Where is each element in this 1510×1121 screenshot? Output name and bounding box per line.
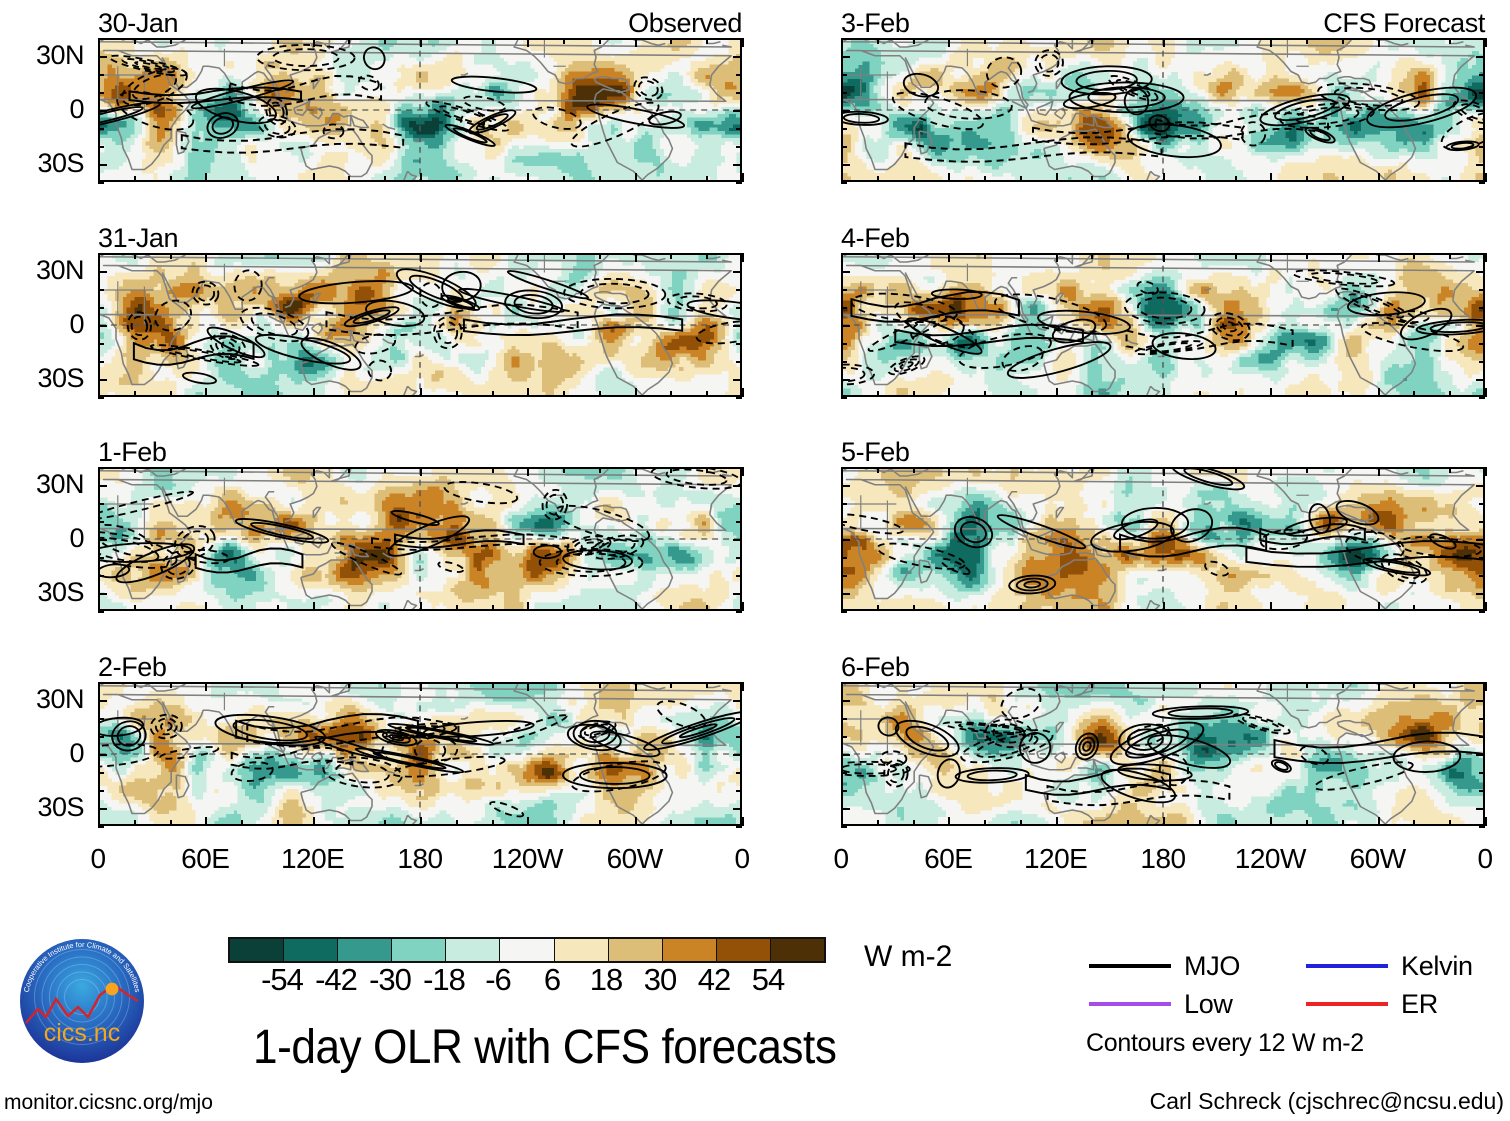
x-tick bbox=[384, 605, 386, 611]
x-tick bbox=[877, 682, 879, 688]
x-tick bbox=[420, 253, 422, 262]
x-tick bbox=[98, 388, 100, 397]
y-tick bbox=[1476, 485, 1485, 487]
y-tick bbox=[1476, 325, 1485, 327]
x-tick bbox=[877, 820, 879, 826]
y-tick bbox=[736, 289, 742, 291]
x-tick bbox=[913, 253, 915, 259]
y-tick bbox=[1479, 467, 1485, 469]
colorbar-swatch-4 bbox=[446, 939, 500, 961]
x-tick bbox=[599, 176, 601, 182]
y-tick bbox=[841, 575, 847, 577]
y-tick bbox=[98, 682, 104, 684]
y-tick bbox=[1476, 271, 1485, 273]
x-tick bbox=[670, 38, 672, 44]
x-tick bbox=[706, 682, 708, 688]
map-panel-31-jan: 31-Jan bbox=[98, 253, 742, 397]
x-tick bbox=[420, 38, 422, 47]
y-axis-label: 0 bbox=[4, 96, 84, 123]
x-tick bbox=[277, 391, 279, 397]
x-tick bbox=[348, 38, 350, 44]
x-tick bbox=[913, 391, 915, 397]
y-axis-label: 30N bbox=[4, 686, 84, 713]
x-tick bbox=[420, 817, 422, 826]
panel-date-label: 2-Feb bbox=[98, 652, 167, 682]
column-header-right: CFS Forecast bbox=[1323, 8, 1485, 38]
y-tick bbox=[733, 700, 742, 702]
y-tick bbox=[733, 110, 742, 112]
panel-date-label: 3-Feb bbox=[841, 8, 910, 38]
map-panel-1-feb: 1-Feb bbox=[98, 467, 742, 611]
x-tick bbox=[1199, 176, 1201, 182]
x-tick bbox=[1342, 820, 1344, 826]
y-tick bbox=[841, 700, 850, 702]
y-tick bbox=[841, 164, 850, 166]
x-tick bbox=[1127, 38, 1129, 44]
y-tick bbox=[733, 271, 742, 273]
x-tick bbox=[456, 605, 458, 611]
olr-anomaly-field bbox=[843, 40, 1483, 180]
x-tick bbox=[1020, 820, 1022, 826]
y-tick bbox=[841, 772, 847, 774]
x-tick bbox=[1056, 817, 1058, 826]
y-axis-label: 30S bbox=[4, 150, 84, 177]
y-tick bbox=[733, 808, 742, 810]
x-tick bbox=[877, 38, 879, 44]
x-tick bbox=[205, 682, 207, 691]
x-tick bbox=[456, 820, 458, 826]
x-tick bbox=[456, 176, 458, 182]
y-tick bbox=[98, 521, 104, 523]
y-tick bbox=[98, 307, 104, 309]
x-tick bbox=[1449, 605, 1451, 611]
x-tick bbox=[1091, 820, 1093, 826]
cics-nc-logo[interactable]: Cooperative Institute for Climate and Sa… bbox=[18, 937, 146, 1065]
y-tick bbox=[98, 271, 107, 273]
contour-interval-note: Contours every 12 W m-2 bbox=[1086, 1030, 1364, 1056]
y-tick bbox=[98, 361, 104, 363]
y-tick bbox=[736, 343, 742, 345]
x-tick bbox=[948, 173, 950, 182]
x-tick bbox=[742, 467, 744, 476]
x-tick bbox=[742, 602, 744, 611]
map-plot-area bbox=[98, 682, 742, 826]
y-tick bbox=[841, 557, 847, 559]
map-panel-30-jan: 30-JanObserved bbox=[98, 38, 742, 182]
x-tick bbox=[1199, 253, 1201, 259]
panel-date-label: 4-Feb bbox=[841, 223, 910, 253]
x-axis-label: 60W bbox=[575, 845, 695, 873]
colorbar-swatch-0 bbox=[230, 939, 284, 961]
x-tick bbox=[98, 173, 100, 182]
x-tick bbox=[635, 253, 637, 262]
y-tick bbox=[733, 379, 742, 381]
y-tick bbox=[841, 325, 850, 327]
x-tick bbox=[348, 176, 350, 182]
y-tick bbox=[98, 92, 104, 94]
x-tick bbox=[527, 253, 529, 262]
x-tick bbox=[348, 605, 350, 611]
x-tick bbox=[1199, 682, 1201, 688]
x-tick bbox=[913, 38, 915, 44]
x-tick bbox=[1199, 391, 1201, 397]
y-axis-label: 30N bbox=[4, 42, 84, 69]
page-title: 1-day OLR with CFS forecasts bbox=[253, 1023, 836, 1073]
y-tick bbox=[733, 593, 742, 595]
x-tick bbox=[1342, 391, 1344, 397]
colorbar-tick-label: 54 bbox=[728, 964, 808, 995]
x-tick bbox=[1270, 467, 1272, 476]
map-panel-3-feb: 3-FebCFS Forecast bbox=[841, 38, 1485, 182]
y-tick bbox=[736, 74, 742, 76]
x-tick bbox=[1127, 820, 1129, 826]
x-tick bbox=[1235, 605, 1237, 611]
x-tick bbox=[1413, 820, 1415, 826]
y-tick bbox=[736, 361, 742, 363]
colorbar-swatch-8 bbox=[663, 939, 717, 961]
x-tick bbox=[1306, 682, 1308, 688]
y-tick bbox=[98, 74, 104, 76]
x-tick bbox=[456, 467, 458, 473]
x-tick bbox=[948, 682, 950, 691]
y-tick bbox=[1476, 808, 1485, 810]
x-tick bbox=[1056, 602, 1058, 611]
x-tick bbox=[241, 820, 243, 826]
x-tick bbox=[984, 467, 986, 473]
y-tick bbox=[736, 128, 742, 130]
colorbar-swatch-9 bbox=[717, 939, 771, 961]
x-tick bbox=[1163, 38, 1165, 47]
x-tick bbox=[1020, 38, 1022, 44]
x-tick bbox=[98, 817, 100, 826]
x-tick bbox=[1485, 253, 1487, 262]
panel-date-label: 5-Feb bbox=[841, 437, 910, 467]
x-tick bbox=[1127, 253, 1129, 259]
colorbar bbox=[228, 937, 826, 963]
colorbar-swatch-5 bbox=[500, 939, 554, 961]
x-tick bbox=[635, 602, 637, 611]
map-plot-area bbox=[841, 253, 1485, 397]
x-tick bbox=[170, 391, 172, 397]
x-tick bbox=[1163, 253, 1165, 262]
x-tick bbox=[1413, 467, 1415, 473]
x-tick bbox=[1163, 602, 1165, 611]
x-tick bbox=[527, 817, 529, 826]
legend-item-mjo: MJO bbox=[1089, 952, 1240, 980]
x-tick bbox=[1413, 38, 1415, 44]
x-tick bbox=[706, 605, 708, 611]
x-tick bbox=[1485, 173, 1487, 182]
x-tick bbox=[134, 176, 136, 182]
x-tick bbox=[599, 682, 601, 688]
y-tick bbox=[736, 38, 742, 40]
legend-item-label: MJO bbox=[1184, 952, 1240, 980]
legend-line-swatch bbox=[1306, 964, 1388, 968]
y-axis-label: 0 bbox=[4, 740, 84, 767]
x-tick bbox=[170, 605, 172, 611]
x-tick bbox=[1306, 176, 1308, 182]
y-tick bbox=[98, 164, 107, 166]
y-tick bbox=[841, 790, 847, 792]
colorbar-unit-label: W m-2 bbox=[864, 942, 952, 972]
y-tick bbox=[736, 826, 742, 828]
y-tick bbox=[1479, 146, 1485, 148]
y-tick bbox=[841, 110, 850, 112]
y-tick bbox=[1476, 110, 1485, 112]
y-tick bbox=[98, 503, 104, 505]
source-url[interactable]: monitor.cicsnc.org/mjo bbox=[4, 1092, 213, 1114]
x-tick bbox=[1127, 605, 1129, 611]
y-tick bbox=[1479, 361, 1485, 363]
x-tick bbox=[134, 605, 136, 611]
x-tick bbox=[563, 38, 565, 44]
x-tick bbox=[948, 817, 950, 826]
y-tick bbox=[1479, 503, 1485, 505]
map-plot-area bbox=[98, 253, 742, 397]
y-tick bbox=[98, 182, 104, 184]
x-tick bbox=[1449, 820, 1451, 826]
x-tick bbox=[1378, 602, 1380, 611]
y-axis-label: 30N bbox=[4, 257, 84, 284]
x-tick bbox=[1378, 38, 1380, 47]
x-tick bbox=[277, 682, 279, 688]
y-tick bbox=[98, 754, 107, 756]
x-tick bbox=[241, 605, 243, 611]
y-tick bbox=[841, 682, 847, 684]
x-tick bbox=[1449, 38, 1451, 44]
legend-line-swatch bbox=[1306, 1002, 1388, 1006]
legend-item-label: Kelvin bbox=[1401, 952, 1473, 980]
x-axis-label: 0 bbox=[781, 845, 901, 873]
x-tick bbox=[1235, 176, 1237, 182]
x-tick bbox=[599, 820, 601, 826]
y-tick bbox=[1479, 826, 1485, 828]
legend-line-swatch bbox=[1089, 964, 1171, 968]
y-tick bbox=[1476, 754, 1485, 756]
x-tick bbox=[948, 38, 950, 47]
x-tick bbox=[241, 467, 243, 473]
olr-anomaly-field bbox=[843, 255, 1483, 395]
y-tick bbox=[1479, 92, 1485, 94]
x-tick bbox=[1056, 253, 1058, 262]
y-tick bbox=[1479, 718, 1485, 720]
x-tick bbox=[984, 820, 986, 826]
x-tick bbox=[841, 173, 843, 182]
x-tick bbox=[1485, 388, 1487, 397]
x-tick bbox=[527, 602, 529, 611]
panel-date-label: 30-Jan bbox=[98, 8, 178, 38]
colorbar-swatch-7 bbox=[609, 939, 663, 961]
x-tick bbox=[241, 253, 243, 259]
colorbar-swatch-1 bbox=[284, 939, 338, 961]
y-tick bbox=[736, 182, 742, 184]
x-tick bbox=[1413, 605, 1415, 611]
x-tick bbox=[1413, 391, 1415, 397]
y-tick bbox=[1479, 289, 1485, 291]
y-tick bbox=[841, 361, 847, 363]
y-tick bbox=[98, 325, 107, 327]
x-tick bbox=[948, 467, 950, 476]
x-tick bbox=[1306, 820, 1308, 826]
x-tick bbox=[205, 602, 207, 611]
y-tick bbox=[98, 539, 107, 541]
legend-item-kelvin: Kelvin bbox=[1306, 952, 1473, 980]
x-tick bbox=[742, 253, 744, 262]
x-tick bbox=[1306, 605, 1308, 611]
colorbar-swatch-10 bbox=[771, 939, 824, 961]
x-tick bbox=[1056, 682, 1058, 691]
y-tick bbox=[733, 539, 742, 541]
x-tick bbox=[313, 817, 315, 826]
x-tick bbox=[1270, 253, 1272, 262]
x-tick bbox=[706, 38, 708, 44]
x-tick bbox=[492, 467, 494, 473]
x-tick bbox=[1270, 173, 1272, 182]
y-tick bbox=[841, 92, 847, 94]
x-tick bbox=[635, 388, 637, 397]
x-tick bbox=[1449, 176, 1451, 182]
y-tick bbox=[98, 379, 107, 381]
x-tick bbox=[1091, 391, 1093, 397]
x-axis-label: 180 bbox=[1103, 845, 1223, 873]
x-tick bbox=[670, 820, 672, 826]
x-tick bbox=[1163, 467, 1165, 476]
y-tick bbox=[841, 503, 847, 505]
y-tick bbox=[841, 754, 850, 756]
x-tick bbox=[913, 605, 915, 611]
x-tick bbox=[277, 176, 279, 182]
x-tick bbox=[527, 467, 529, 476]
y-tick bbox=[98, 343, 104, 345]
x-tick bbox=[1342, 467, 1344, 473]
y-tick bbox=[841, 521, 847, 523]
x-tick bbox=[670, 253, 672, 259]
y-tick bbox=[736, 146, 742, 148]
x-tick bbox=[1127, 467, 1129, 473]
x-tick bbox=[742, 682, 744, 691]
x-tick bbox=[98, 602, 100, 611]
x-tick bbox=[420, 173, 422, 182]
y-tick bbox=[841, 182, 847, 184]
x-tick bbox=[384, 467, 386, 473]
x-tick bbox=[241, 176, 243, 182]
x-tick bbox=[348, 253, 350, 259]
column-header-left: Observed bbox=[628, 8, 742, 38]
y-tick bbox=[98, 808, 107, 810]
map-plot-area bbox=[98, 38, 742, 182]
x-tick bbox=[1091, 605, 1093, 611]
y-tick bbox=[1479, 736, 1485, 738]
y-tick bbox=[841, 718, 847, 720]
x-tick bbox=[599, 605, 601, 611]
x-tick bbox=[277, 605, 279, 611]
x-tick bbox=[205, 467, 207, 476]
x-tick bbox=[348, 391, 350, 397]
y-tick bbox=[736, 467, 742, 469]
x-tick bbox=[313, 173, 315, 182]
x-tick bbox=[1449, 391, 1451, 397]
x-tick bbox=[1342, 253, 1344, 259]
x-tick bbox=[913, 682, 915, 688]
y-tick bbox=[1479, 343, 1485, 345]
x-tick bbox=[1091, 176, 1093, 182]
x-tick bbox=[1270, 38, 1272, 47]
x-tick bbox=[1485, 38, 1487, 47]
y-tick bbox=[841, 74, 847, 76]
y-tick bbox=[733, 56, 742, 58]
x-tick bbox=[492, 682, 494, 688]
x-axis-label: 60W bbox=[1318, 845, 1438, 873]
y-tick bbox=[841, 379, 850, 381]
y-tick bbox=[841, 593, 850, 595]
x-tick bbox=[205, 173, 207, 182]
y-tick bbox=[98, 575, 104, 577]
y-tick bbox=[736, 575, 742, 577]
x-tick bbox=[877, 605, 879, 611]
x-axis-label: 120E bbox=[253, 845, 373, 873]
logo-wordmark: cics.nc bbox=[44, 1019, 120, 1047]
olr-anomaly-field bbox=[843, 684, 1483, 824]
y-tick bbox=[841, 808, 850, 810]
x-tick bbox=[841, 602, 843, 611]
x-tick bbox=[563, 176, 565, 182]
y-tick bbox=[1479, 397, 1485, 399]
y-tick bbox=[1479, 128, 1485, 130]
x-tick bbox=[492, 38, 494, 44]
y-tick bbox=[736, 521, 742, 523]
x-tick bbox=[1199, 605, 1201, 611]
x-tick bbox=[313, 602, 315, 611]
legend-item-label: ER bbox=[1401, 990, 1438, 1018]
y-tick bbox=[98, 467, 104, 469]
x-tick bbox=[913, 176, 915, 182]
x-tick bbox=[277, 820, 279, 826]
x-tick bbox=[635, 38, 637, 47]
x-tick bbox=[420, 388, 422, 397]
y-tick bbox=[98, 253, 104, 255]
x-tick bbox=[313, 467, 315, 476]
colorbar-swatch-6 bbox=[555, 939, 609, 961]
legend-item-label: Low bbox=[1184, 990, 1233, 1018]
x-tick bbox=[420, 602, 422, 611]
x-tick bbox=[984, 682, 986, 688]
y-tick bbox=[1479, 682, 1485, 684]
x-tick bbox=[527, 173, 529, 182]
y-tick bbox=[841, 253, 847, 255]
colorbar-swatch-2 bbox=[338, 939, 392, 961]
x-tick bbox=[1056, 388, 1058, 397]
y-tick bbox=[736, 772, 742, 774]
x-tick bbox=[1163, 682, 1165, 691]
olr-anomaly-field bbox=[843, 469, 1483, 609]
x-tick bbox=[1378, 682, 1380, 691]
x-tick bbox=[205, 38, 207, 47]
x-axis-label: 60E bbox=[888, 845, 1008, 873]
x-tick bbox=[1270, 602, 1272, 611]
y-tick bbox=[841, 397, 847, 399]
x-tick bbox=[1378, 388, 1380, 397]
x-tick bbox=[913, 467, 915, 473]
x-tick bbox=[1163, 173, 1165, 182]
olr-anomaly-field bbox=[100, 40, 740, 180]
y-tick bbox=[98, 718, 104, 720]
y-tick bbox=[98, 146, 104, 148]
x-tick bbox=[948, 602, 950, 611]
x-axis-label: 120E bbox=[996, 845, 1116, 873]
x-tick bbox=[1485, 467, 1487, 476]
map-panel-5-feb: 5-Feb bbox=[841, 467, 1485, 611]
y-axis-label: 0 bbox=[4, 311, 84, 338]
